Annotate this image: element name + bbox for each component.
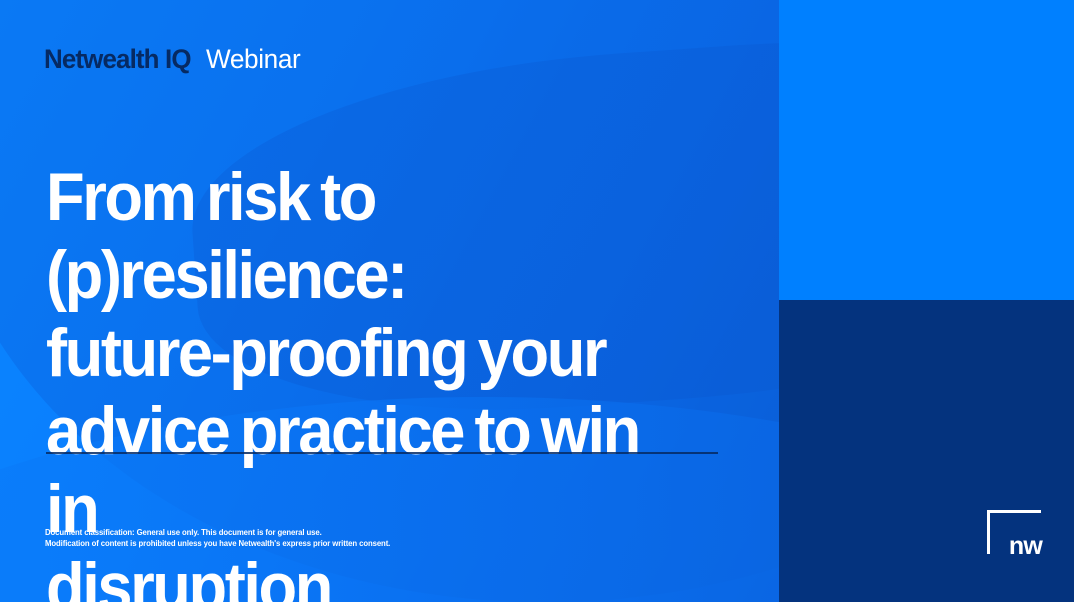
disclaimer-line-1: Document classification: General use onl… (45, 527, 390, 538)
title-line-4: disruption (46, 548, 697, 602)
webinar-title-slide: Netwealth IQ Webinar From risk to (p)res… (0, 0, 1074, 602)
netwealth-logo: nw (987, 510, 1041, 554)
brand-name: Netwealth IQ (44, 44, 191, 75)
right-panel-bright (779, 0, 1074, 300)
logo-wordmark: nw (1009, 534, 1042, 559)
divider-rule (46, 452, 718, 454)
title-line-3: advice practice to win in (46, 392, 697, 548)
content-type-label: Webinar (206, 44, 300, 75)
disclaimer-line-2: Modification of content is prohibited un… (45, 538, 390, 549)
brand-lockup: Netwealth IQ Webinar (44, 44, 303, 75)
title-line-1: From risk to (p)resilience: (46, 158, 697, 314)
document-classification-note: Document classification: General use onl… (45, 527, 390, 549)
title-line-2: future-proofing your (46, 314, 697, 392)
